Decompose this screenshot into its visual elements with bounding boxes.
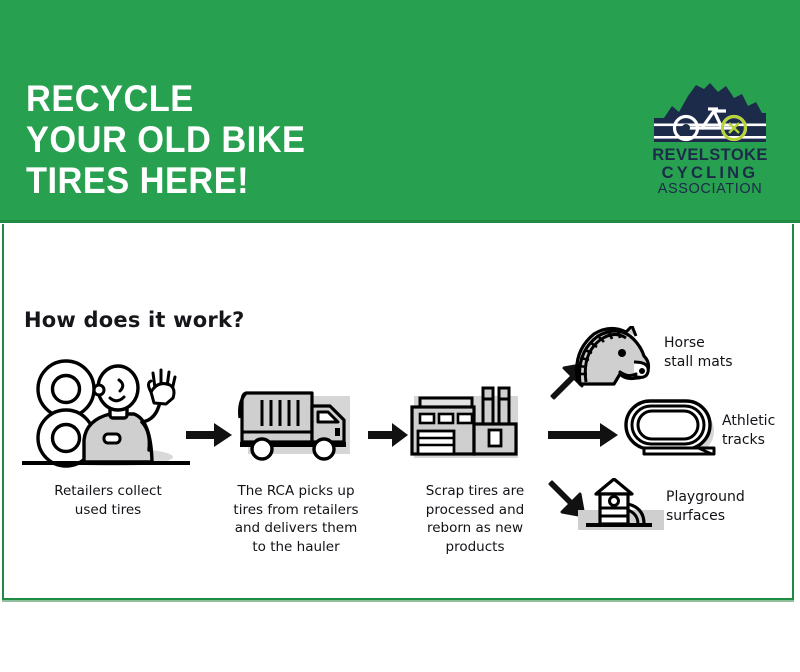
caption-step-pickup: The RCA picks up tires from retailers an… bbox=[226, 482, 366, 556]
label-playground-surfaces: Playground surfaces bbox=[666, 488, 786, 526]
logo-line-1: REVELSTOKE bbox=[652, 146, 768, 164]
person-icon bbox=[84, 366, 175, 462]
logo-svg: REVELSTOKE CYCLING ASSOCIATION bbox=[648, 80, 772, 195]
poster-root: RECYCLE YOUR OLD BIKE TIRES HERE! bbox=[0, 0, 800, 672]
truck-icon bbox=[234, 384, 358, 468]
arrow-factory-to-track bbox=[548, 422, 620, 453]
page-title: RECYCLE YOUR OLD BIKE TIRES HERE! bbox=[26, 78, 305, 201]
caption-step-retailers: Retailers collect used tires bbox=[24, 482, 192, 519]
horse-head-icon bbox=[564, 326, 656, 388]
logo-stripe-top bbox=[654, 124, 766, 127]
logo-line-2: CYCLING bbox=[662, 164, 759, 182]
front-hub bbox=[682, 124, 690, 132]
factory-icon bbox=[404, 382, 524, 468]
tires-and-person-icon bbox=[18, 358, 193, 473]
label-horse-stall-mats: Horse stall mats bbox=[664, 334, 784, 372]
panel-bottom-rule bbox=[2, 600, 794, 602]
revelstoke-cycling-association-logo: REVELSTOKE CYCLING ASSOCIATION bbox=[648, 80, 772, 195]
section-heading: How does it work? bbox=[24, 308, 245, 332]
logo-stripe-bottom bbox=[654, 136, 766, 139]
arrow-retailers-to-truck bbox=[186, 422, 234, 453]
running-track-icon bbox=[622, 398, 722, 460]
logo-line-3: ASSOCIATION bbox=[658, 181, 763, 195]
mountain-icon bbox=[654, 83, 766, 142]
label-athletic-tracks: Athletic tracks bbox=[722, 412, 800, 450]
playground-icon bbox=[574, 478, 666, 534]
header-underline bbox=[0, 220, 800, 223]
caption-step-processing: Scrap tires are processed and reborn as … bbox=[408, 482, 542, 556]
